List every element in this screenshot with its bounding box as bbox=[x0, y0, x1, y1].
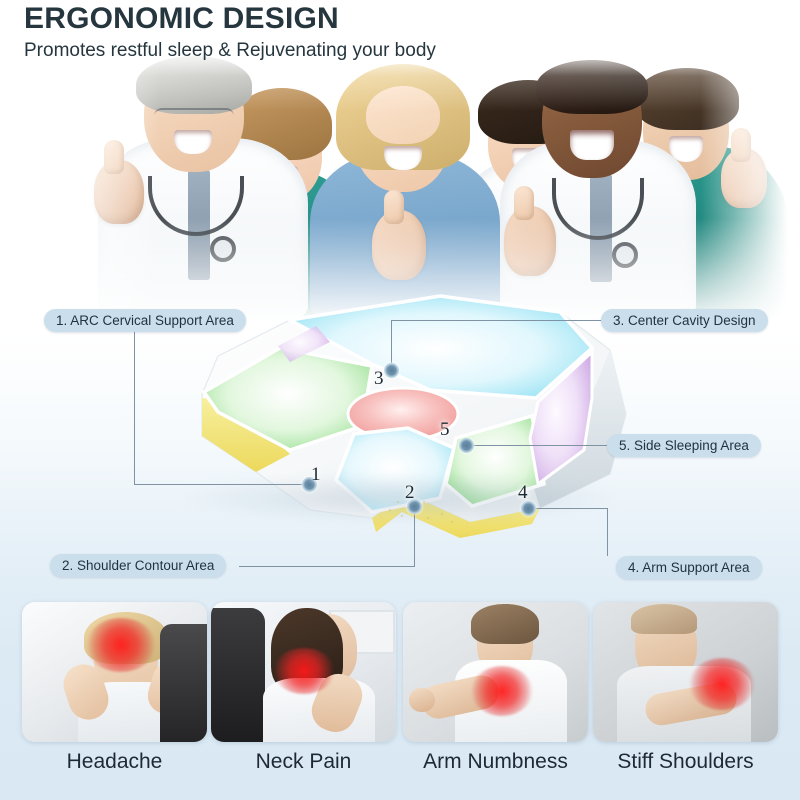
medical-team-photo bbox=[58, 52, 788, 320]
person-doctor-senior-male bbox=[88, 52, 318, 320]
pain-glow bbox=[471, 666, 533, 716]
callout-number-3: 3 bbox=[374, 368, 384, 390]
symptom-card-arm-numbness[interactable] bbox=[403, 602, 588, 742]
page-title: ERGONOMIC DESIGN bbox=[24, 2, 800, 36]
pain-glow bbox=[86, 618, 156, 672]
callout-line-4-vertical bbox=[607, 508, 608, 556]
callout-label-2[interactable]: 2. Shoulder Contour Area bbox=[50, 554, 226, 577]
callout-number-2: 2 bbox=[405, 482, 415, 504]
callout-number-4: 4 bbox=[518, 482, 528, 504]
pillow-drop-shadow bbox=[180, 474, 620, 522]
callout-line-3-vertical bbox=[391, 320, 392, 367]
callout-line-2-vertical bbox=[414, 506, 415, 566]
pain-glow bbox=[273, 648, 335, 694]
stiff-shoulders-photo bbox=[593, 602, 778, 742]
callout-label-4[interactable]: 4. Arm Support Area bbox=[616, 556, 762, 579]
callout-label-3[interactable]: 3. Center Cavity Design bbox=[601, 309, 768, 332]
header: ERGONOMIC DESIGN Promotes restful sleep … bbox=[0, 0, 800, 64]
arm-numbness-photo bbox=[403, 602, 588, 742]
callout-marker-5[interactable] bbox=[459, 438, 474, 453]
callout-line-5-horizontal bbox=[466, 445, 608, 446]
symptom-label-arm-numbness: Arm Numbness bbox=[403, 748, 588, 776]
callout-label-1[interactable]: 1. ARC Cervical Support Area bbox=[44, 309, 246, 332]
pain-glow bbox=[689, 658, 755, 710]
callout-marker-3[interactable] bbox=[384, 363, 399, 378]
symptom-label-headache: Headache bbox=[22, 748, 207, 776]
callout-line-2-horizontal bbox=[239, 566, 415, 567]
person-doctor-male-front bbox=[486, 52, 701, 320]
symptom-card-headache[interactable] bbox=[22, 602, 207, 742]
callout-line-1-horizontal bbox=[134, 484, 308, 485]
callout-number-1: 1 bbox=[311, 464, 321, 486]
neck-pain-photo bbox=[211, 602, 396, 742]
symptom-card-row: Headache Neck Pain bbox=[0, 600, 800, 800]
symptom-label-stiff-shoulders: Stiff Shoulders bbox=[593, 748, 778, 776]
person-nurse-blonde-front bbox=[296, 58, 511, 320]
symptom-card-neck-pain[interactable] bbox=[211, 602, 396, 742]
callout-line-3-horizontal bbox=[391, 320, 603, 321]
callout-number-5: 5 bbox=[440, 419, 450, 441]
headache-photo bbox=[22, 602, 207, 742]
callout-line-4-horizontal bbox=[528, 508, 608, 509]
callout-line-1-vertical bbox=[134, 332, 135, 484]
symptom-label-neck-pain: Neck Pain bbox=[211, 748, 396, 776]
symptom-card-stiff-shoulders[interactable] bbox=[593, 602, 778, 742]
page-subtitle: Promotes restful sleep & Rejuvenating yo… bbox=[24, 38, 800, 64]
callout-label-5[interactable]: 5. Side Sleeping Area bbox=[607, 434, 761, 457]
infographic-page: ERGONOMIC DESIGN Promotes restful sleep … bbox=[0, 0, 800, 800]
